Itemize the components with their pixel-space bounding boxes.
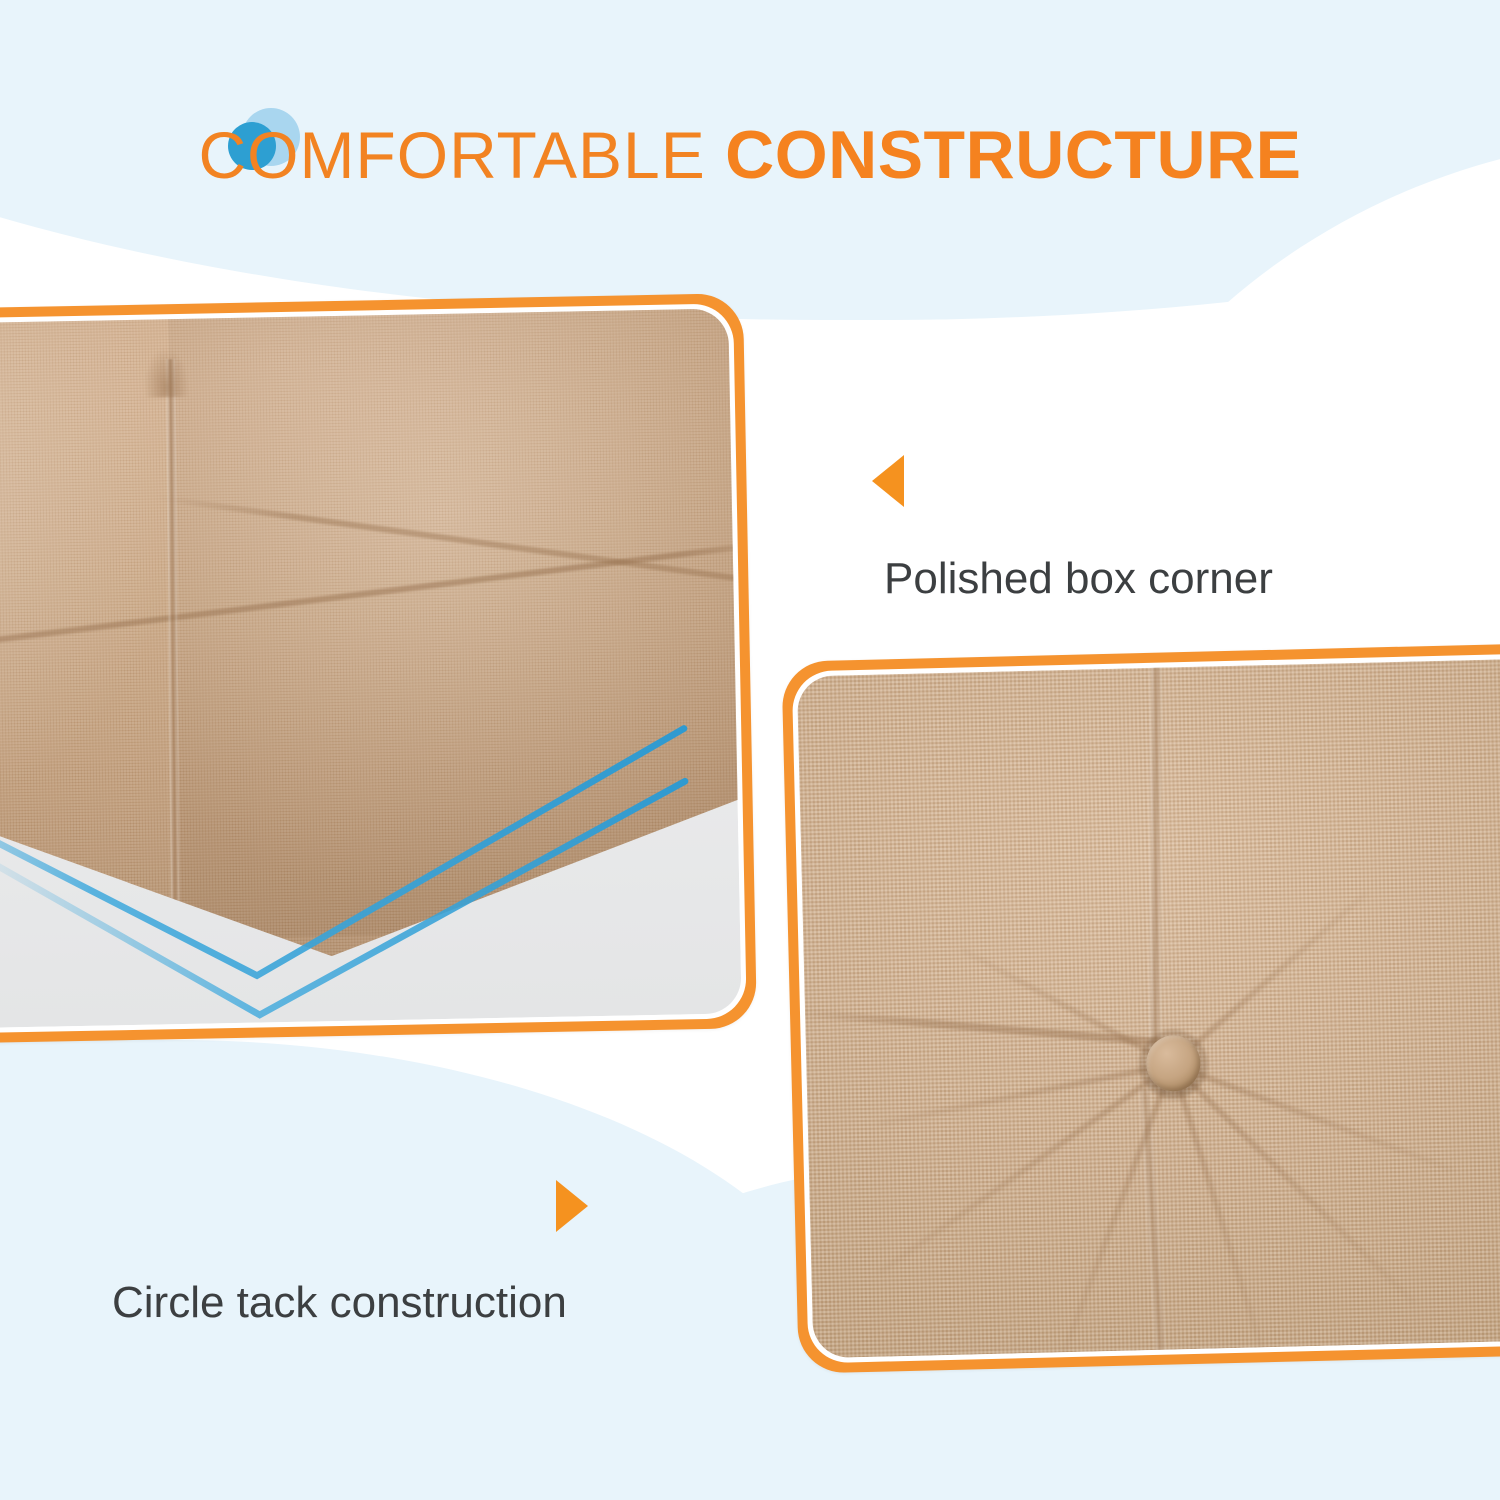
- triangle-left-icon: [872, 455, 904, 507]
- page-header: COMFORTABLE CONSTRUCTURE: [0, 100, 1500, 210]
- panel-white-inset: [792, 653, 1500, 1364]
- infographic-canvas: COMFORTABLE CONSTRUCTURE: [0, 0, 1500, 1500]
- triangle-right-icon: [556, 1180, 588, 1232]
- page-title: COMFORTABLE CONSTRUCTURE: [198, 121, 1301, 189]
- fabric-seam-above-tack: [1149, 658, 1162, 1088]
- page-title-light: COMFORTABLE: [198, 118, 705, 192]
- callout-label-polished-box-corner: Polished box corner: [884, 554, 1273, 604]
- photo-panel-polished-box-corner: [0, 293, 757, 1046]
- callout-circle-tack: Circle tack construction: [112, 1180, 588, 1328]
- photo-panel-circle-tack: [781, 642, 1500, 1373]
- photo-polished-box-corner: [0, 308, 742, 1030]
- callout-polished-box-corner: Polished box corner: [872, 455, 1273, 604]
- panel-white-inset: [0, 303, 747, 1035]
- photo-circle-tack: [797, 658, 1500, 1359]
- callout-label-circle-tack: Circle tack construction: [112, 1278, 588, 1328]
- cushion-corner-image: [0, 308, 742, 1030]
- blue-chevron-highlight-icon: [0, 308, 742, 1030]
- tack-fabric-image: [797, 658, 1500, 1359]
- page-title-bold: CONSTRUCTURE: [725, 117, 1301, 193]
